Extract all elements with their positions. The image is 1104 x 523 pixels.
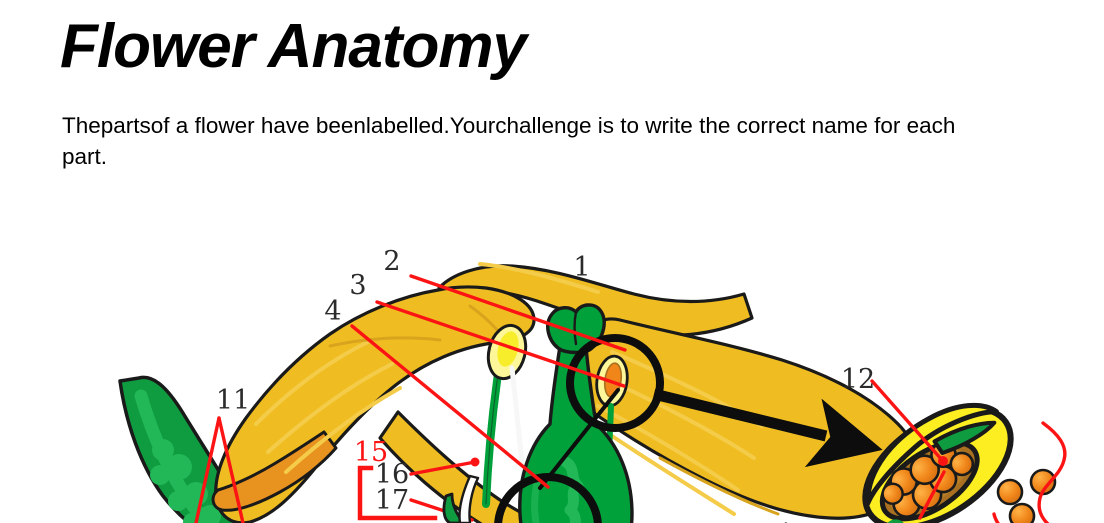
flower-anatomy-diagram: 1 2 3 4 11 12 15 16 17 bbox=[0, 228, 1104, 523]
label-3: 3 bbox=[349, 270, 366, 301]
inset-free-pollen-grains bbox=[998, 470, 1055, 523]
flower-diagram-container: 1 2 3 4 11 12 15 16 17 bbox=[0, 228, 1104, 523]
leader-dot-16 bbox=[471, 458, 480, 467]
label-1: 1 bbox=[573, 252, 590, 283]
leader-dot-12 bbox=[938, 456, 948, 466]
label-4: 4 bbox=[324, 296, 341, 327]
label-11: 11 bbox=[216, 385, 250, 416]
page-title: Flower Anatomy bbox=[60, 16, 526, 78]
label-12: 12 bbox=[841, 364, 875, 395]
label-2: 2 bbox=[383, 246, 400, 277]
label-17: 17 bbox=[375, 485, 409, 516]
instructions-text: Thepartsof a flower have beenlabelled.Yo… bbox=[62, 110, 962, 172]
worksheet-page: Flower Anatomy Thepartsof a flower have … bbox=[0, 0, 1104, 523]
